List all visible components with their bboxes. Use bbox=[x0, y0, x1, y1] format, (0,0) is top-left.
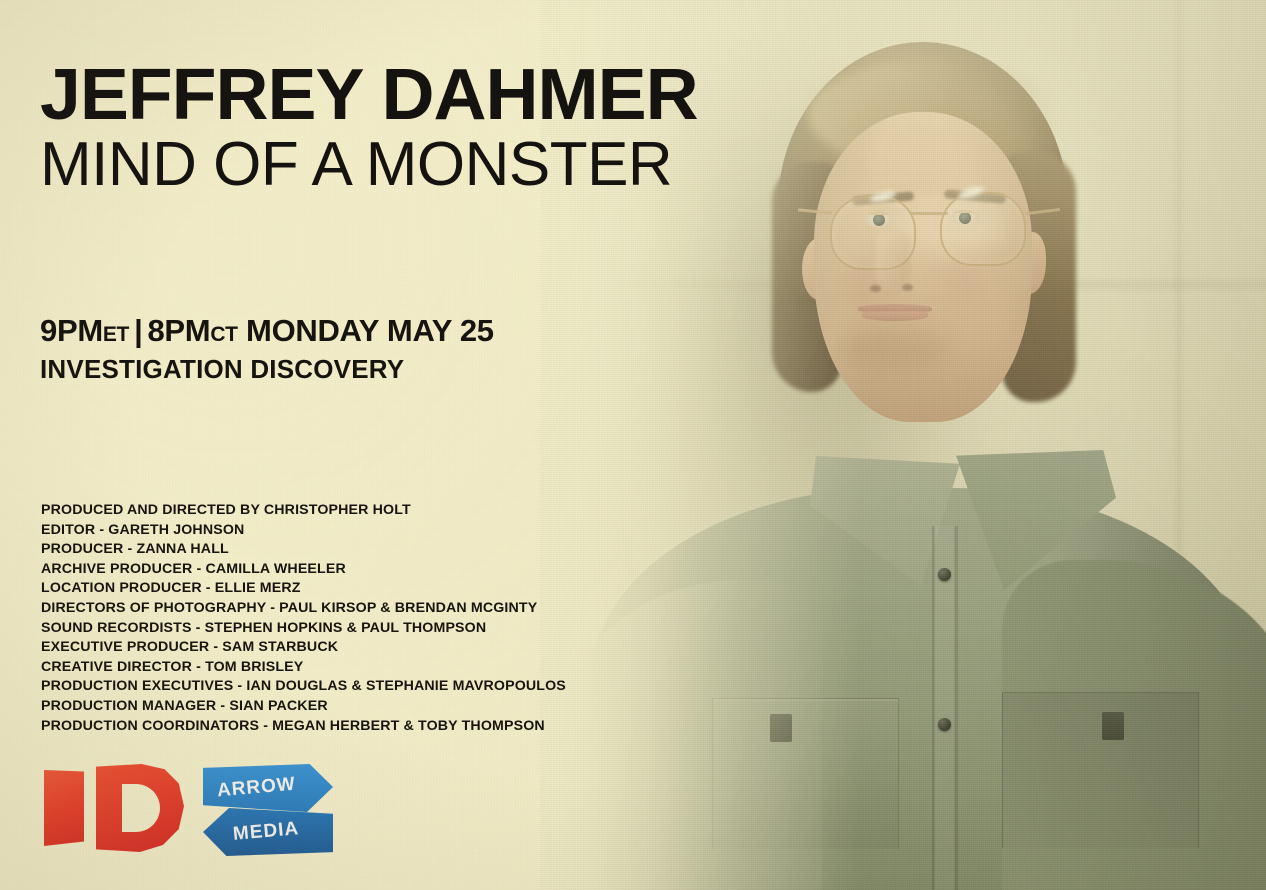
credit-line: PRODUCTION EXECUTIVES - IAN DOUGLAS & ST… bbox=[41, 677, 566, 697]
credit-line: SOUND RECORDISTS - STEPHEN HOPKINS & PAU… bbox=[41, 619, 566, 639]
credit-line: PRODUCER - ZANNA HALL bbox=[41, 540, 566, 560]
time-secondary: 8PM bbox=[147, 313, 210, 348]
credit-line: PRODUCTION MANAGER - SIAN PACKER bbox=[41, 697, 566, 717]
time-separator: | bbox=[129, 313, 147, 348]
arrow-media-band-top: ARROW bbox=[203, 764, 333, 812]
id-network-logo bbox=[44, 764, 184, 852]
poster: JEFFREY DAHMER MIND OF A MONSTER 9PMET|8… bbox=[0, 0, 1266, 890]
credits-block: PRODUCED AND DIRECTED BY CHRISTOPHER HOL… bbox=[41, 501, 566, 736]
id-logo-counter bbox=[122, 784, 160, 832]
credit-line: PRODUCTION COORDINATORS - MEGAN HERBERT … bbox=[41, 717, 566, 737]
arrow-media-band-bottom: MEDIA bbox=[203, 808, 333, 856]
credit-line: ARCHIVE PRODUCER - CAMILLA WHEELER bbox=[41, 560, 566, 580]
zone-primary: ET bbox=[103, 323, 129, 346]
page-subtitle: MIND OF A MONSTER bbox=[40, 134, 672, 196]
id-logo-letter-i bbox=[44, 770, 84, 846]
broadcast-date: MONDAY MAY 25 bbox=[246, 313, 494, 348]
page-title: JEFFREY DAHMER bbox=[40, 62, 698, 128]
text-layer: JEFFREY DAHMER MIND OF A MONSTER 9PMET|8… bbox=[0, 0, 1266, 890]
time-primary: 9PM bbox=[40, 313, 103, 348]
broadcast-time: 9PMET|8PMCT MONDAY MAY 25 bbox=[40, 313, 494, 349]
network-name: INVESTIGATION DISCOVERY bbox=[40, 354, 404, 385]
credit-line: PRODUCED AND DIRECTED BY CHRISTOPHER HOL… bbox=[41, 501, 566, 521]
credit-line: LOCATION PRODUCER - ELLIE MERZ bbox=[41, 579, 566, 599]
arrow-media-logo: ARROW MEDIA bbox=[203, 758, 333, 858]
credit-line: EXECUTIVE PRODUCER - SAM STARBUCK bbox=[41, 638, 566, 658]
credit-line: CREATIVE DIRECTOR - TOM BRISLEY bbox=[41, 658, 566, 678]
id-logo-letter-d bbox=[96, 764, 184, 852]
arrow-media-text-media: MEDIA bbox=[232, 818, 300, 846]
credit-line: DIRECTORS OF PHOTOGRAPHY - PAUL KIRSOP &… bbox=[41, 599, 566, 619]
arrow-media-text-arrow: ARROW bbox=[216, 774, 297, 803]
credit-line: EDITOR - GARETH JOHNSON bbox=[41, 521, 566, 541]
zone-secondary: CT bbox=[210, 323, 237, 346]
